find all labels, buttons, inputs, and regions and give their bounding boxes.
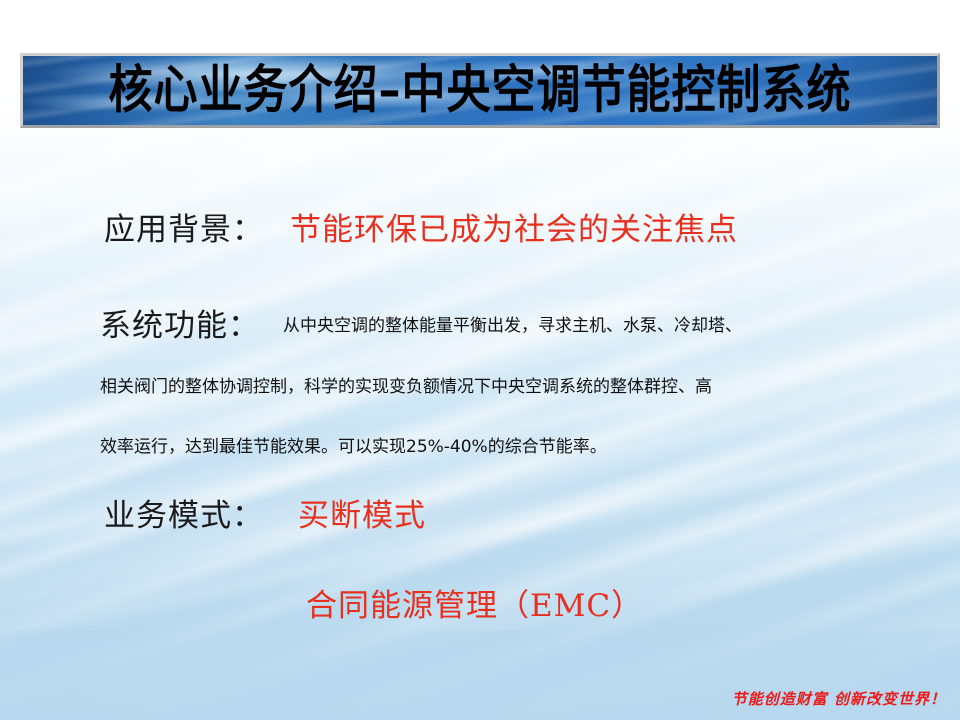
business-model-option-2: 合同能源管理（EMC） <box>306 588 643 624</box>
business-model-option-1: 买断模式 <box>298 498 426 534</box>
slide-title-banner: 核心业务介绍–中央空调节能控制系统 <box>20 53 940 128</box>
business-model-option-2-wrap: 合同能源管理（EMC） <box>306 580 643 625</box>
section-business-model: 业务模式：买断模式 <box>104 490 426 535</box>
system-function-line-1: 从中央空调的整体能量平衡出发，寻求主机、水泵、冷却塔、 <box>283 316 742 336</box>
system-function-line-3: 效率运行，达到最佳节能效果。可以实现25%-40%的综合节能率。 <box>100 437 607 457</box>
section-system-function-header: 系统功能： <box>100 300 260 345</box>
section-application-background: 应用背景：节能环保已成为社会的关注焦点 <box>104 204 738 249</box>
footer-slogan: 节能创造财富 创新改变世界！ <box>732 688 946 709</box>
system-function-line-2: 相关阀门的整体协调控制，科学的实现变负额情况下中央空调系统的整体群控、高 <box>100 377 712 397</box>
system-function-label: 系统功能： <box>100 308 260 344</box>
slide-canvas: 核心业务介绍–中央空调节能控制系统 应用背景：节能环保已成为社会的关注焦点 系统… <box>0 0 960 720</box>
slide-title: 核心业务介绍–中央空调节能控制系统 <box>109 65 852 117</box>
system-function-line-1-wrap: 从中央空调的整体能量平衡出发，寻求主机、水泵、冷却塔、 <box>283 311 742 336</box>
system-function-line-3-wrap: 效率运行，达到最佳节能效果。可以实现25%-40%的综合节能率。 <box>100 432 607 457</box>
application-background-value: 节能环保已成为社会的关注焦点 <box>290 212 738 248</box>
application-background-label: 应用背景： <box>104 212 264 248</box>
system-function-line-2-wrap: 相关阀门的整体协调控制，科学的实现变负额情况下中央空调系统的整体群控、高 <box>100 372 712 397</box>
business-model-label: 业务模式： <box>104 498 264 534</box>
